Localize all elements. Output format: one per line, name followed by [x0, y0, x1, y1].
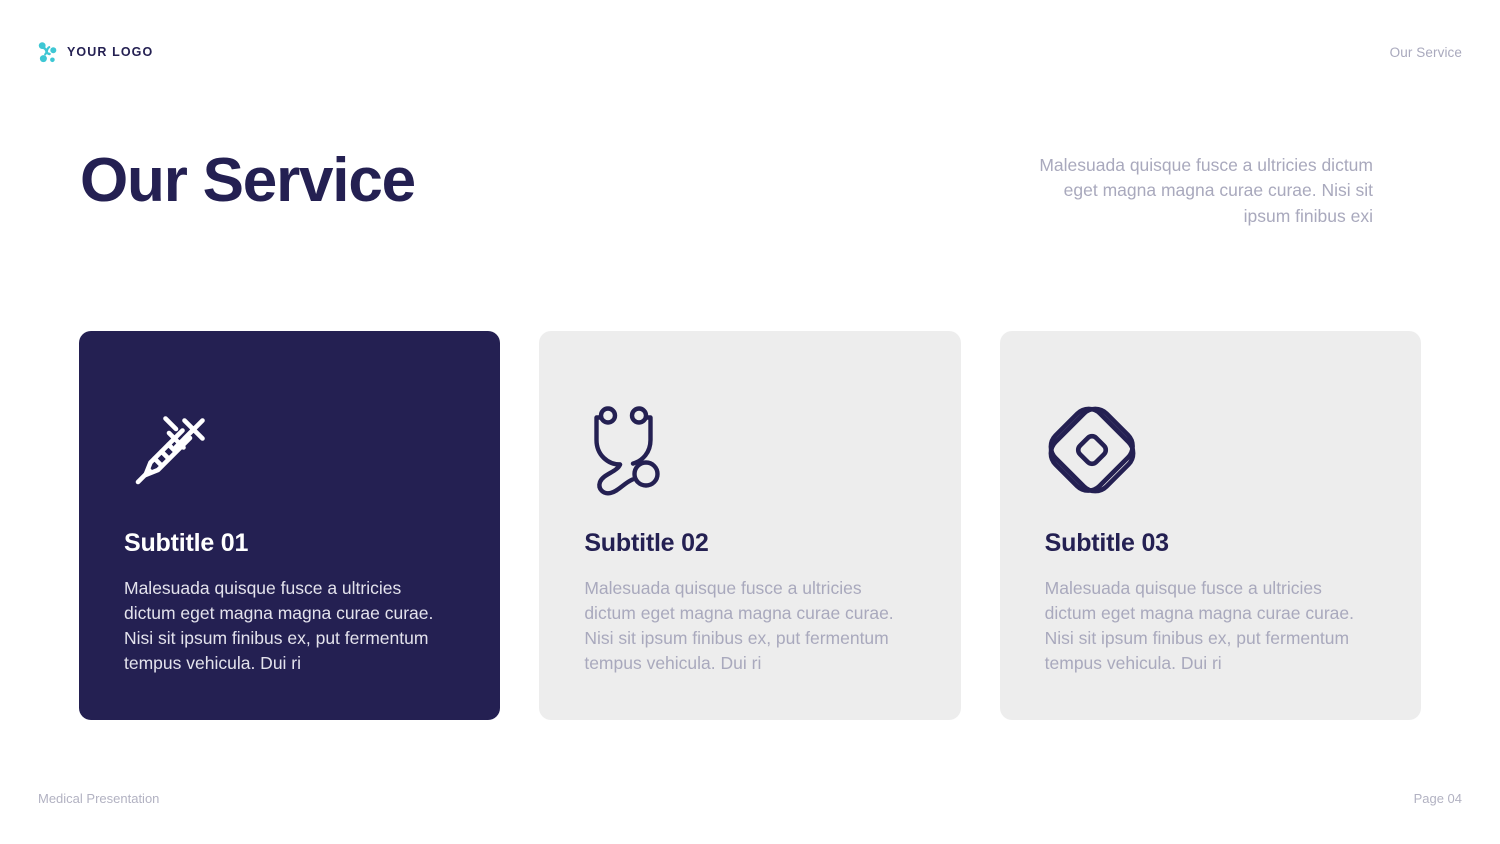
slide-footer: Medical Presentation Page 04: [38, 791, 1462, 806]
slide-our-service: YOUR LOGO Our Service Our Service Malesu…: [0, 0, 1500, 844]
service-card-3-body: Malesuada quisque fusce a ultricies dict…: [1045, 576, 1376, 676]
slide-header: YOUR LOGO Our Service: [38, 38, 1462, 66]
crossed-bandages-icon: [1045, 395, 1376, 505]
page-title: Our Service: [80, 148, 415, 213]
page-number: Page 04: [1414, 791, 1462, 806]
service-card-1[interactable]: Subtitle 01 Malesuada quisque fusce a ul…: [79, 331, 500, 720]
logo[interactable]: YOUR LOGO: [38, 41, 153, 63]
intro-paragraph: Malesuada quisque fusce a ultricies dict…: [1033, 153, 1373, 229]
service-card-2-title: Subtitle 02: [584, 529, 915, 558]
molecule-icon: [38, 41, 58, 63]
service-card-1-body: Malesuada quisque fusce a ultricies dict…: [124, 576, 455, 676]
service-card-3-title: Subtitle 03: [1045, 529, 1376, 558]
service-card-3[interactable]: Subtitle 03 Malesuada quisque fusce a ul…: [1000, 331, 1421, 720]
stethoscope-icon: [584, 395, 915, 505]
syringe-icon: [124, 395, 455, 505]
header-section-label: Our Service: [1390, 45, 1462, 60]
service-card-1-title: Subtitle 01: [124, 529, 455, 558]
service-card-list: Subtitle 01 Malesuada quisque fusce a ul…: [79, 331, 1421, 720]
service-card-2[interactable]: Subtitle 02 Malesuada quisque fusce a ul…: [539, 331, 960, 720]
logo-text: YOUR LOGO: [67, 45, 153, 59]
footer-deck-name: Medical Presentation: [38, 791, 159, 806]
service-card-2-body: Malesuada quisque fusce a ultricies dict…: [584, 576, 915, 676]
